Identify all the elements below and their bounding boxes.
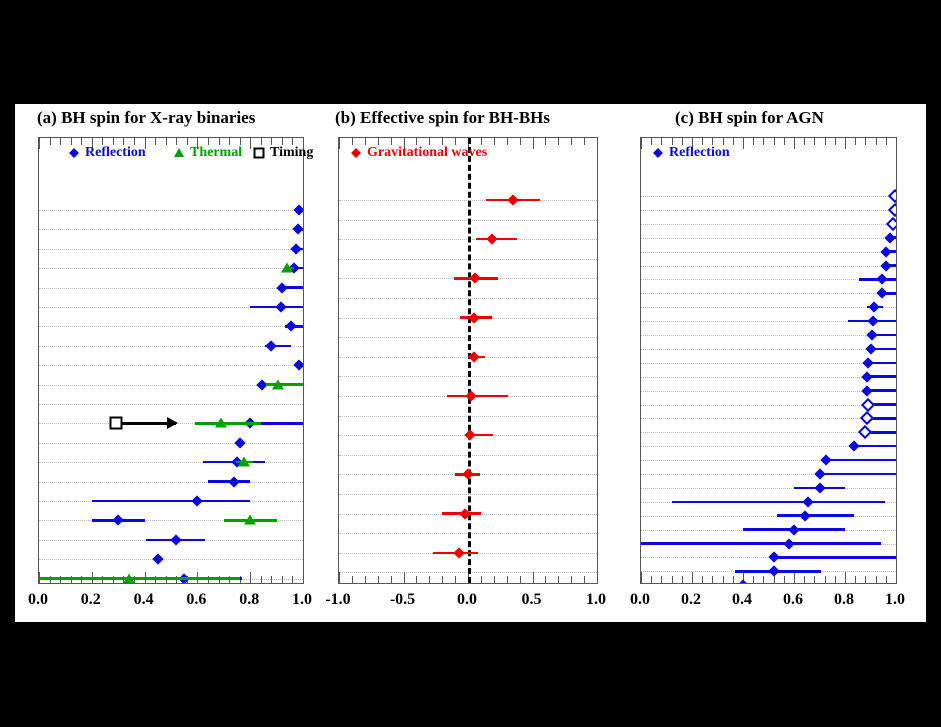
data-point-diamond [800,510,811,521]
data-point-diamond [276,282,287,293]
data-point-diamond [876,288,887,299]
data-point-diamond [460,508,471,519]
data-point-diamond [486,234,497,245]
diamond-icon [350,148,361,159]
data-point-diamond [234,437,245,448]
data-point-diamond [802,496,813,507]
error-bar [772,556,896,559]
error-bar [777,514,854,517]
legend-label: Timing [270,145,313,161]
data-point-diamond [469,312,480,323]
data-point-diamond [788,524,799,535]
data-point-diamond [858,425,872,439]
x-tick-label: 1.0 [586,591,606,609]
x-tick-label: 0.2 [681,591,701,609]
error-bar [447,395,508,398]
data-point-diamond [768,552,779,563]
data-point-diamond [888,203,896,217]
data-point-diamond [880,246,891,257]
panel-c-data [641,138,896,583]
x-tick-label: 1.0 [885,591,905,609]
panel-b-title: (b) Effective spin for BH-BHs [335,108,550,128]
data-point-diamond [783,538,794,549]
data-point-diamond [152,554,163,565]
data-point-triangle [281,263,293,273]
data-point-diamond [292,224,303,235]
data-point-diamond [866,329,877,340]
data-point-diamond [285,321,296,332]
x-tick-label: 1.0 [292,591,312,609]
data-point-square [109,417,122,430]
legend-item-timing: Timing [253,145,313,161]
diamond-icon [652,148,663,159]
error-bar [818,473,896,476]
x-tick-label: 0.8 [239,591,259,609]
data-point-diamond [876,274,887,285]
x-tick-label: 0.0 [457,591,477,609]
data-point-diamond [861,385,872,396]
x-tick-label: 0.5 [522,591,542,609]
data-point-diamond [867,315,878,326]
data-point-diamond [860,411,874,425]
legend-item-reflection: Reflection [652,145,730,161]
x-tick-label: 0.4 [732,591,752,609]
data-point-diamond [888,189,896,203]
x-tick-label: 0.8 [834,591,854,609]
error-bar [825,459,896,462]
data-point-diamond [192,495,203,506]
x-tick-label: 0.6 [783,591,803,609]
data-point-diamond [291,243,302,254]
panel-b-x-axis-title: χeff [457,615,477,637]
data-point-diamond [507,194,518,205]
panel-c-plot-frame [640,137,897,584]
panel-c-title: (c) BH spin for AGN [675,108,824,128]
diamond-icon [68,148,79,159]
x-tick-label: 0.2 [81,591,101,609]
x-tick-label: 0.4 [134,591,154,609]
data-point-triangle [215,418,227,428]
data-point-diamond [275,301,286,312]
legend-label: Reflection [85,145,146,161]
x-tick-label: 0.6 [186,591,206,609]
x-tick-label: -1.0 [325,591,350,609]
legend-item-reflection: Reflection [68,145,146,161]
legend-item-thermal: Thermal [173,145,242,161]
arrowhead-icon [167,417,178,429]
data-point-diamond [293,204,303,215]
figure-root: (a) BH spin for X-ray binaries0.00.20.40… [15,104,926,622]
data-point-diamond [468,351,479,362]
data-point-diamond [464,430,475,441]
data-point-diamond [469,273,480,284]
triangle-icon [173,148,184,159]
error-bar [195,422,261,425]
x-tick-label: 0.0 [630,591,650,609]
data-point-triangle [123,573,135,583]
data-point-triangle [272,379,284,389]
data-point-diamond [737,580,748,583]
x-tick-label: -0.5 [390,591,415,609]
data-point-diamond [865,343,876,354]
square-icon [253,148,264,159]
x-tick-label: 0.0 [28,591,48,609]
data-point-diamond [768,566,779,577]
panel-a-data [39,138,303,583]
data-point-diamond [861,397,875,411]
data-point-diamond [814,482,825,493]
data-point-diamond [862,357,873,368]
data-point-diamond [814,468,825,479]
data-point-triangle [244,515,256,525]
data-point-diamond [861,371,872,382]
data-point-diamond [453,547,464,558]
error-bar [641,542,881,545]
panel-a-title: (a) BH spin for X-ray binaries [37,108,255,128]
data-point-diamond [462,469,473,480]
data-point-diamond [266,340,277,351]
data-point-diamond [229,476,240,487]
panel-b-data [339,138,597,583]
data-point-diamond [113,515,124,526]
data-point-diamond [886,217,896,231]
error-bar [92,500,250,503]
data-point-diamond [820,454,831,465]
data-point-diamond [848,441,859,452]
panel-a-plot-frame [38,137,304,584]
panel-b-plot-frame [338,137,598,584]
data-point-triangle [238,457,250,467]
legend-label: Reflection [669,145,730,161]
data-point-diamond [465,390,476,401]
data-point-diamond [869,302,880,313]
data-point-diamond [171,534,182,545]
legend-item-gravitational-waves: Gravitational waves [350,145,487,161]
legend-label: Thermal [190,145,242,161]
data-point-diamond [293,360,303,371]
error-bar [672,501,885,504]
legend-label: Gravitational waves [367,145,487,161]
panel-a-x-axis-title: a* [163,615,177,637]
error-bar [39,577,240,580]
panel-c-x-axis-title: a* [761,615,775,637]
data-point-diamond [884,232,895,243]
data-point-diamond [880,260,891,271]
